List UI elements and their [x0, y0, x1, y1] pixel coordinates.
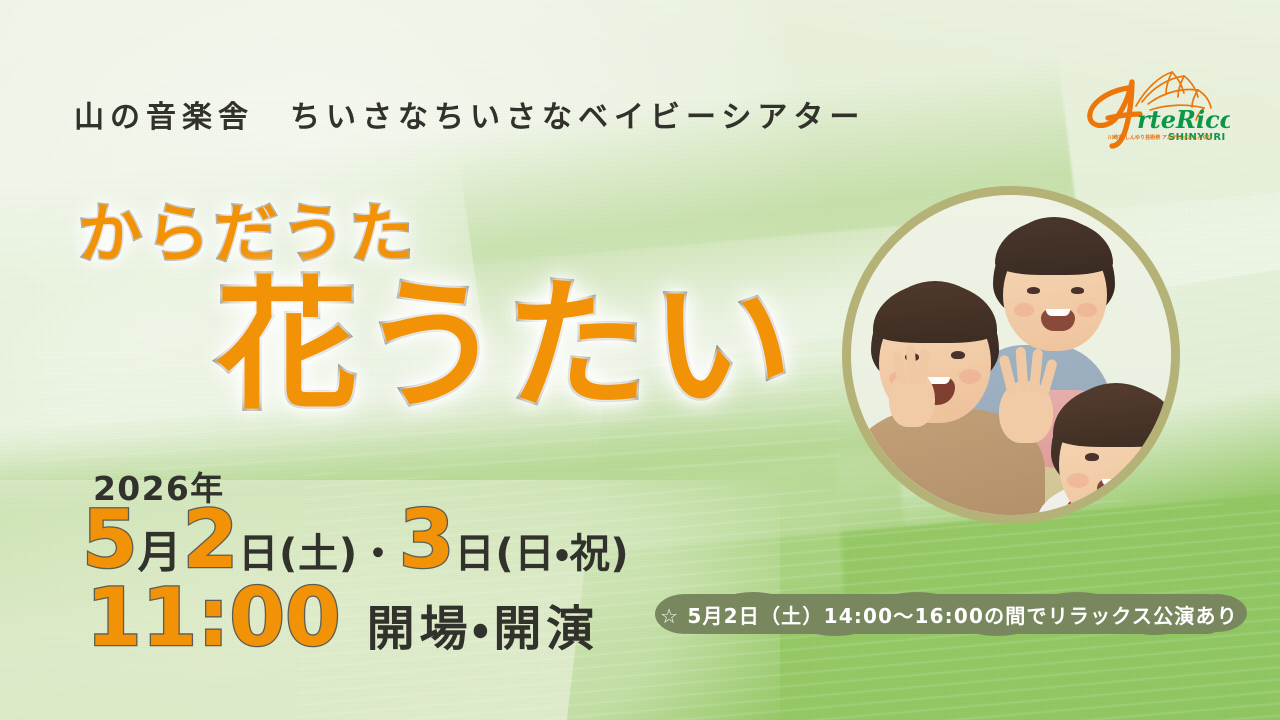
time-hour: 11 — [86, 578, 197, 658]
time-colon: : — [197, 578, 229, 658]
logo-wordmark: rteRicca — [1137, 105, 1230, 134]
relax-performance-text: ☆ 5月2日（土）14:00〜16:00の間でリラックス公演あり — [645, 588, 1253, 640]
date-day1-unit: 日 — [238, 534, 279, 574]
logo-subtext: 川崎市・しんゆり芸術祭 アルテリッカしんゆり — [1108, 134, 1213, 141]
time-label-open: 開場・開演 — [367, 605, 599, 653]
relax-performance-badge: ☆ 5月2日（土）14:00〜16:00の間でリラックス公演あり — [645, 588, 1253, 640]
babies-photo-circle — [842, 186, 1180, 524]
date-day2-weekday: (日・祝) — [495, 534, 629, 574]
date-month-number: 5 — [82, 500, 138, 580]
time-minute: 00 — [229, 578, 340, 658]
date-day2-unit: 日 — [455, 534, 496, 574]
arte-ricca-logo: rteRicca SHINYURI 川崎市・しんゆり芸術祭 アルテリッカしんゆり — [1074, 62, 1230, 154]
date-month-unit: 月 — [138, 531, 183, 575]
babies-photo — [851, 195, 1171, 515]
event-date-line: 5 月 2 日 (土) ・ 3 日 (日・祝) — [82, 500, 629, 580]
date-day1-weekday: (土) — [279, 534, 358, 574]
subtitle-karadauta: からだうた — [78, 183, 417, 275]
date-day2-number: 3 — [399, 500, 455, 580]
date-day1-number: 2 — [183, 500, 239, 580]
headline-company-series: 山の音楽舎 ちいさなちいさなベイビーシアター — [74, 92, 865, 136]
poster-canvas: 山の音楽舎 ちいさなちいさなベイビーシアター からだうた 花うたい 2026年 … — [0, 0, 1280, 720]
main-title-hanautai: 花うたい — [216, 272, 795, 421]
date-separator: ・ — [358, 534, 399, 574]
event-time-line: 11 : 00 開場・開演 — [86, 578, 599, 658]
